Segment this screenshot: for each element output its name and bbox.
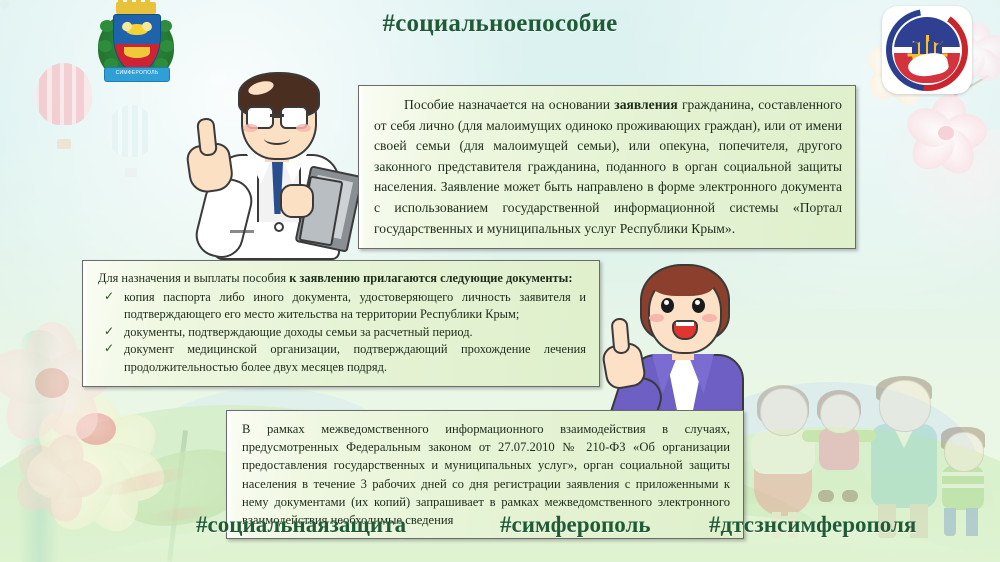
application-text-bold: заявления bbox=[614, 97, 677, 112]
family-silhouette-icon bbox=[912, 36, 942, 54]
documents-lead: Для назначения и выплаты пособия к заявл… bbox=[98, 270, 586, 288]
text-box-application: Пособие назначается на основании заявлен… bbox=[358, 85, 856, 249]
text-box-documents: Для назначения и выплаты пособия к заявл… bbox=[82, 260, 600, 387]
list-item-text: документ медицинской организации, подтве… bbox=[124, 342, 586, 374]
list-item-text: копия паспорта либо иного документа, удо… bbox=[124, 290, 586, 322]
hot-air-balloon-white-icon bbox=[108, 105, 154, 177]
hashtag-socialnayazashita: #социальнаязащита bbox=[196, 512, 406, 538]
coat-of-arms-ribbon-text: СИМФЕРОПОЛЬ bbox=[105, 68, 169, 81]
family-daughter bbox=[808, 394, 870, 502]
documents-lead-part-1: Для назначения и выплаты пособия bbox=[98, 271, 289, 285]
check-icon: ✓ bbox=[104, 288, 114, 306]
hashtag-simferopol: #симферополь bbox=[500, 512, 651, 538]
list-item: ✓ документы, подтверждающие доходы семьи… bbox=[98, 324, 586, 342]
application-text-part-2: гражданина, составленного от себя лично … bbox=[374, 97, 842, 236]
check-icon: ✓ bbox=[104, 340, 114, 358]
hot-air-balloon-tiny-icon bbox=[0, 0, 9, 9]
glasses-icon bbox=[246, 106, 308, 126]
list-item: ✓ документ медицинской организации, подт… bbox=[98, 341, 586, 376]
application-text-part-1: Пособие назначается на основании bbox=[404, 97, 614, 112]
slide-canvas: СИМФЕРОПОЛЬ bbox=[0, 0, 1000, 562]
page-title: #социальноепособие bbox=[0, 10, 1000, 38]
documents-lead-bold: к заявлению прилагаются следующие докуме… bbox=[289, 271, 572, 285]
check-icon: ✓ bbox=[104, 323, 114, 341]
hot-air-balloon-pink-icon bbox=[36, 63, 92, 149]
list-item: ✓ копия паспорта либо иного документа, у… bbox=[98, 289, 586, 324]
doctor-illustration bbox=[196, 62, 358, 260]
sakura-blossom-1-icon bbox=[904, 96, 988, 174]
application-paragraph: Пособие назначается на основании заявлен… bbox=[374, 95, 842, 239]
footer-hashtags: #социальнаязащита #симферополь #дтсзнсим… bbox=[0, 512, 1000, 546]
documents-list: ✓ копия паспорта либо иного документа, у… bbox=[98, 289, 586, 377]
decorative-blossom-pink-small bbox=[14, 438, 100, 518]
coat-of-arms-ribbon: СИМФЕРОПОЛЬ bbox=[104, 67, 170, 82]
businesswoman-illustration bbox=[608, 258, 758, 430]
list-item-text: документы, подтверждающие доходы семьи з… bbox=[124, 325, 473, 339]
hashtag-dtszn: #дтсзнсимферополя bbox=[709, 512, 916, 538]
